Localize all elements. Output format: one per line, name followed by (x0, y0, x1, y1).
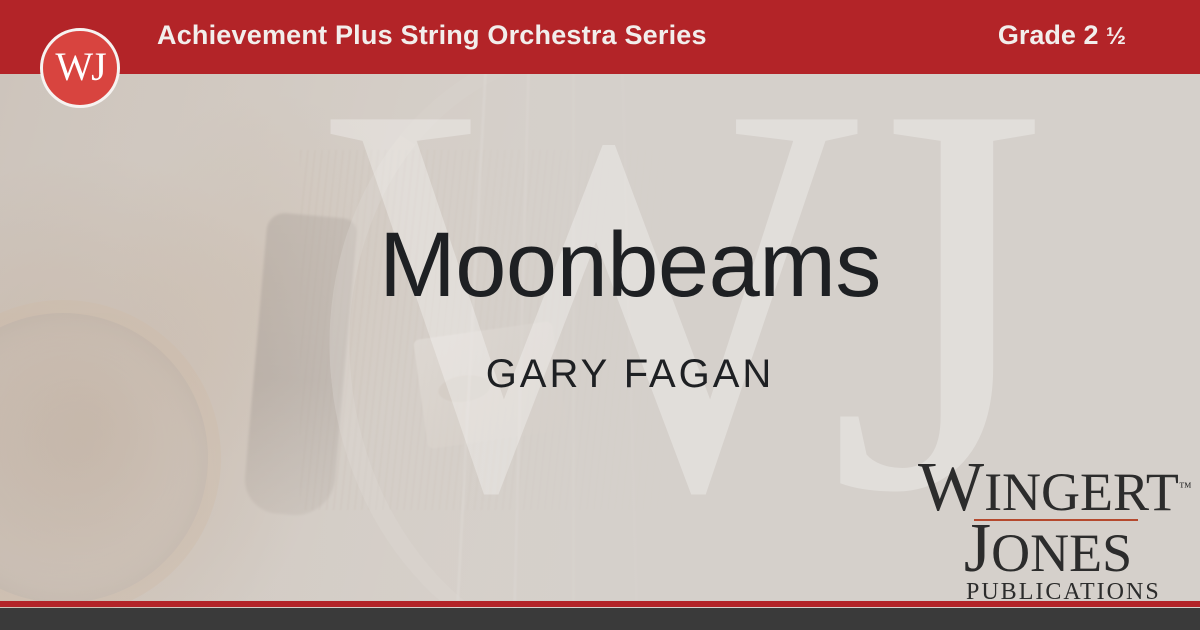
grade-fraction: ½ (1106, 23, 1126, 50)
score-cover-banner: WJ Achievement Plus String Orchestra Ser… (0, 0, 1200, 630)
header-bar: Achievement Plus String Orchestra Series… (0, 0, 1200, 74)
work-title: Moonbeams (180, 215, 1080, 315)
wj-badge-label: WJ (55, 47, 104, 90)
logo-wingert-rest: INGERT (984, 462, 1179, 522)
logo-line-wingert: WINGERT™ (918, 462, 1158, 517)
grade-label: Grade 2 ½ (998, 20, 1126, 51)
logo-jones-rest: ONES (991, 523, 1132, 583)
trademark-symbol: ™ (1179, 479, 1192, 494)
title-block: Moonbeams GARY FAGAN (180, 215, 1080, 397)
composer-name: GARY FAGAN (180, 351, 1080, 397)
series-title: Achievement Plus String Orchestra Series (157, 20, 707, 51)
footer-bar (0, 608, 1200, 630)
grade-text: Grade 2 (998, 20, 1099, 50)
wingert-jones-logo: WINGERT™ JONES PUBLICATIONS (918, 462, 1158, 605)
logo-w-initial: W (918, 449, 984, 526)
footer-red-stripe (0, 601, 1200, 607)
wj-badge-icon: WJ (40, 28, 120, 108)
logo-line-jones: JONES (938, 521, 1158, 581)
